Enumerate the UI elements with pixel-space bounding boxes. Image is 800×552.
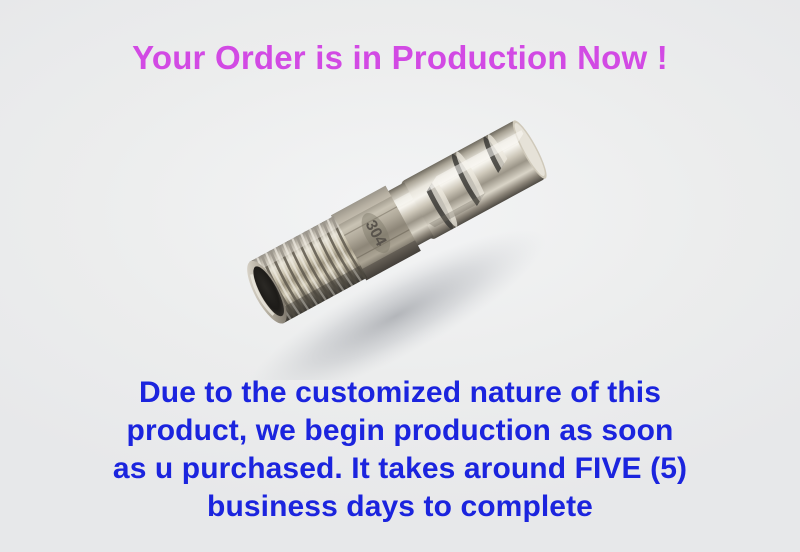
page-title: Your Order is in Production Now ! bbox=[0, 38, 800, 78]
promo-notice-image: Your Order is in Production Now ! bbox=[0, 0, 800, 552]
notice-line-4: business days to complete bbox=[0, 488, 800, 526]
product-photo: 304 bbox=[200, 120, 630, 380]
notice-line-3: as u purchased. It takes around FIVE (5) bbox=[0, 450, 800, 488]
notice-line-2: product, we begin production as soon bbox=[0, 412, 800, 450]
notice-line-1: Due to the customized nature of this bbox=[0, 374, 800, 412]
production-notice-text: Due to the customized nature of this pro… bbox=[0, 374, 800, 526]
